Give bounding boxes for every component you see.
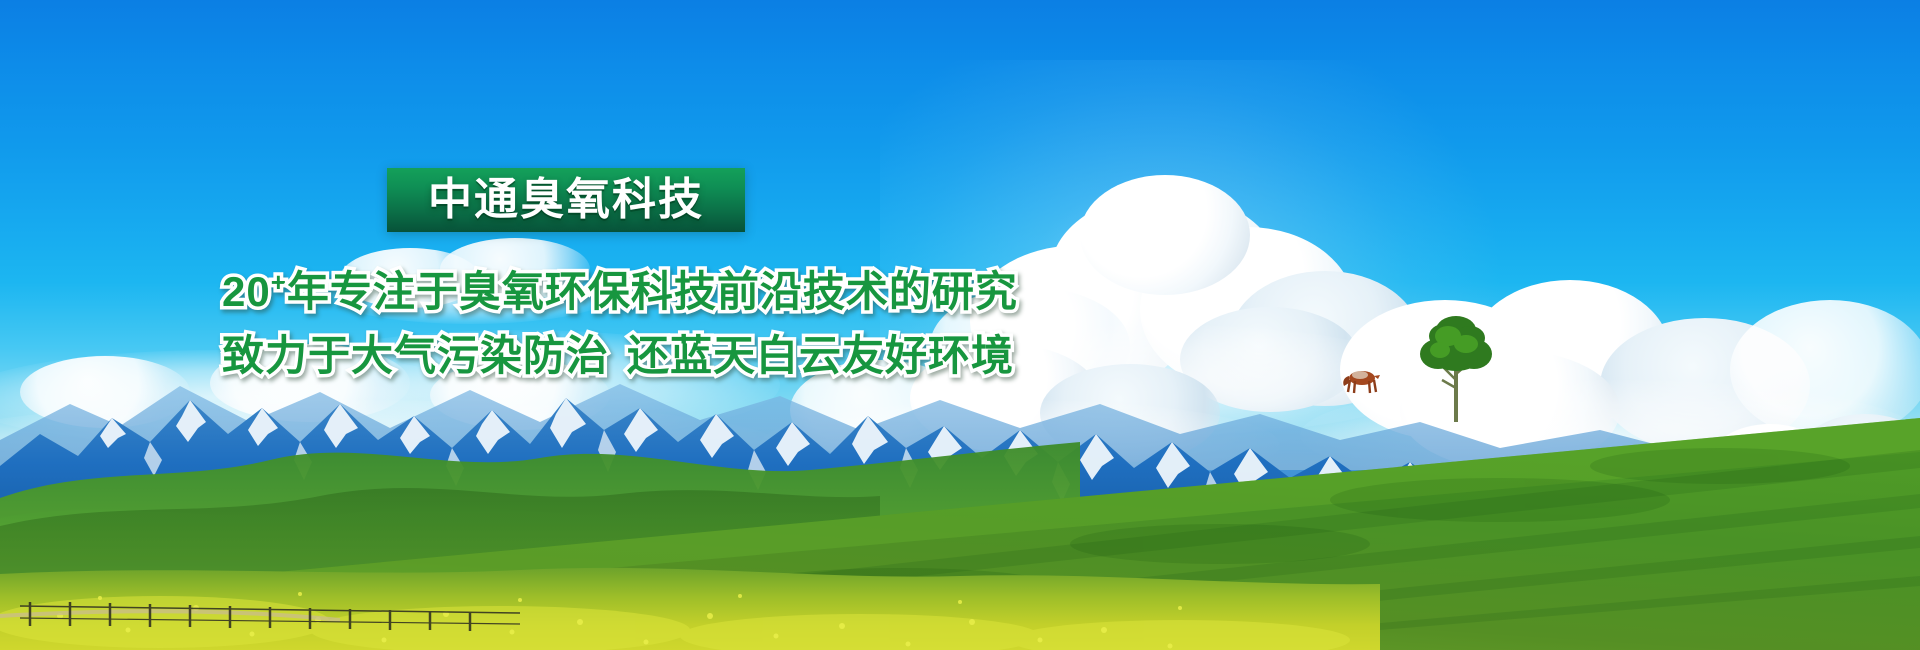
- page-title: 中通臭氧科技: [428, 178, 704, 222]
- hero-banner: 中通臭氧科技 20+年专注于臭氧环保科技前沿技术的研究 致力于大气污染防治还蓝天…: [0, 0, 1920, 650]
- tagline-line-2: 致力于大气污染防治还蓝天白云友好环境: [0, 322, 1180, 383]
- tagline-plus-superscript: +: [271, 267, 287, 297]
- banner-copy: 中通臭氧科技 20+年专注于臭氧环保科技前沿技术的研究 致力于大气污染防治还蓝天…: [0, 150, 1180, 410]
- tagline-line-1: 20+年专注于臭氧环保科技前沿技术的研究: [0, 258, 1180, 319]
- grazing-cow: [1340, 366, 1384, 396]
- tagline-line-2-part-b: 还蓝天白云友好环境: [627, 332, 1014, 379]
- tagline-line-1-rest: 年专注于臭氧环保科技前沿技术的研究: [287, 268, 1018, 315]
- tagline-line-2-part-a: 致力于大气污染防治: [222, 332, 609, 379]
- lone-tree: [1404, 310, 1508, 422]
- tagline-years-number: 20: [222, 268, 271, 315]
- company-title-plate: 中通臭氧科技: [387, 168, 745, 232]
